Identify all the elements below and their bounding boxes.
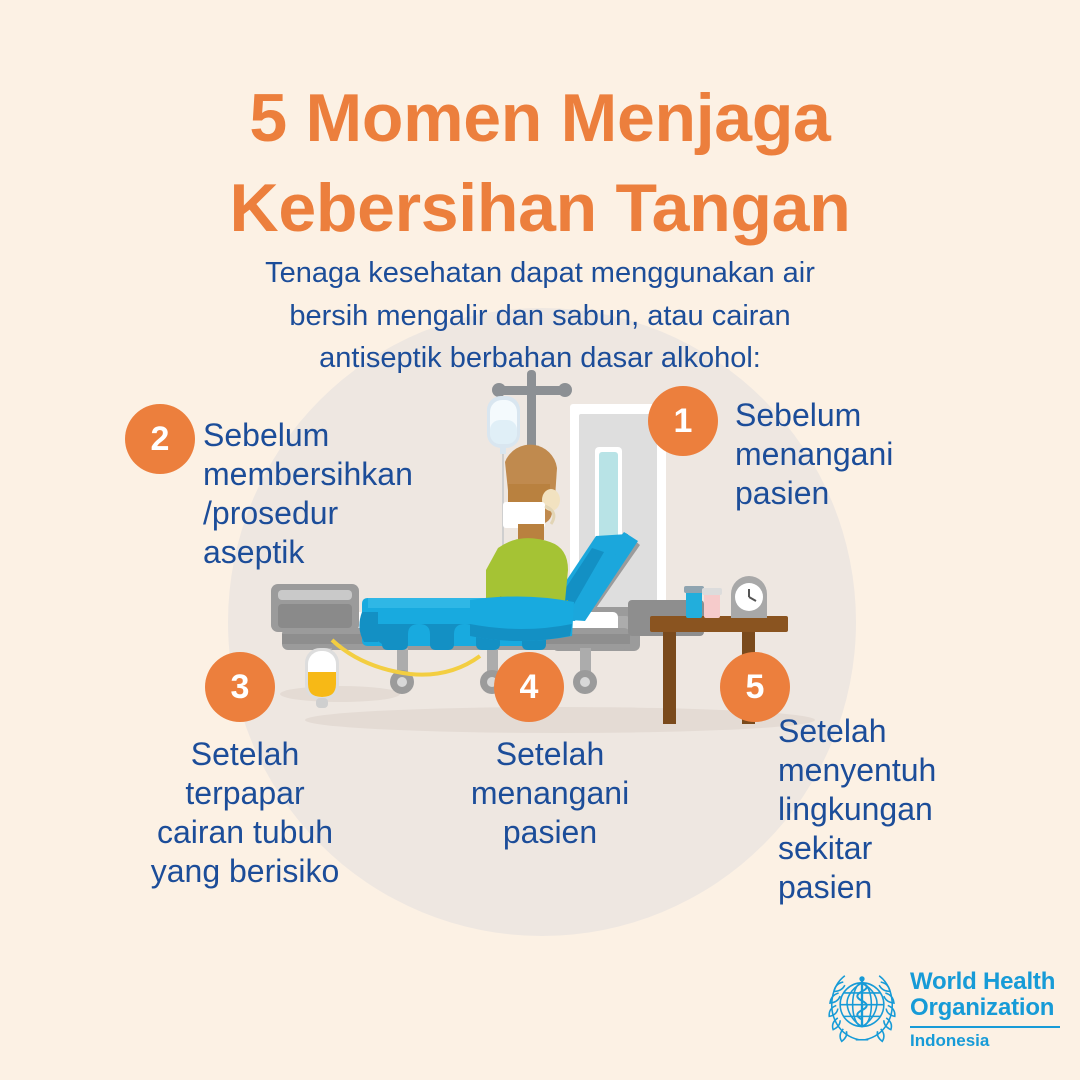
infographic-poster: 5 Momen Menjaga Kebersihan Tangan Tenaga…: [0, 0, 1080, 1080]
step-badge-4[interactable]: 4: [494, 652, 564, 722]
step-badge-1[interactable]: 1: [648, 386, 718, 456]
step-badge-2[interactable]: 2: [125, 404, 195, 474]
page-title: 5 Momen Menjaga Kebersihan Tangan: [0, 74, 1080, 254]
step-label-3: Setelah terpapar cairan tubuh yang beris…: [95, 735, 395, 891]
who-line-1: World Health: [910, 969, 1060, 995]
step-label-4: Setelah menangani pasien: [400, 735, 700, 852]
step-badge-3[interactable]: 3: [205, 652, 275, 722]
step-label-5: Setelah menyentuh lingkungan sekitar pas…: [778, 712, 1058, 907]
who-line-2: Organization: [910, 995, 1060, 1021]
who-emblem-icon: [823, 968, 901, 1046]
who-divider: [910, 1026, 1060, 1028]
step-label-1: Sebelum menangani pasien: [735, 396, 1035, 513]
step-label-2: Sebelum membersihkan /prosedur aseptik: [203, 416, 503, 572]
who-logo: World Health Organization Indonesia: [823, 966, 1038, 1054]
page-subtitle: Tenaga kesehatan dapat menggunakan air b…: [190, 252, 890, 380]
who-country-label: Indonesia: [910, 1032, 1060, 1049]
